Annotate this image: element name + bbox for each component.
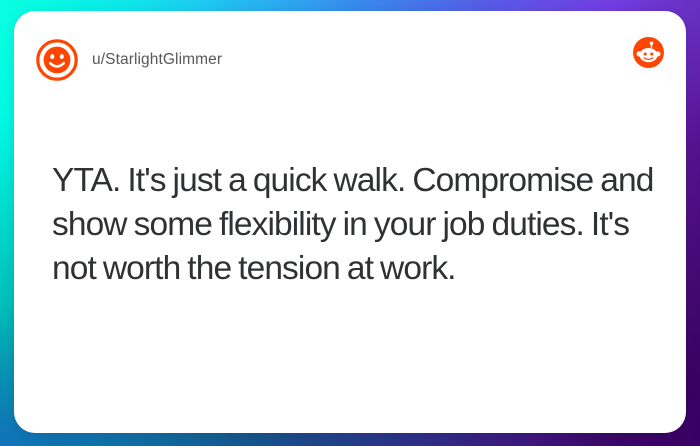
reddit-comment-card: u/StarlightGlimmer YTA. It's just a quic… [14, 11, 686, 433]
smiley-face-avatar-icon[interactable] [36, 39, 78, 81]
username-label[interactable]: u/StarlightGlimmer [92, 51, 222, 69]
comment-text: YTA. It's just a quick walk. Compromise … [52, 159, 672, 291]
comment-header: u/StarlightGlimmer [14, 35, 686, 85]
reddit-snoo-icon[interactable] [633, 37, 664, 68]
